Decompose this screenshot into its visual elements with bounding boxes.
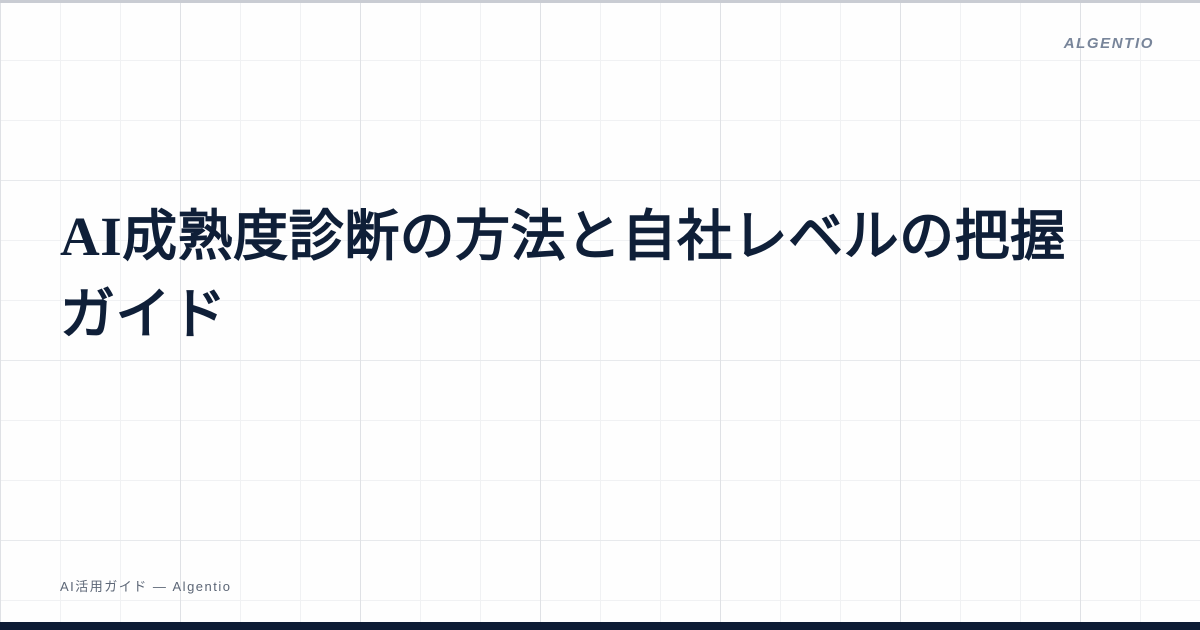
brand-logo: ALGENTIO: [1064, 36, 1154, 51]
page-title: AI成熟度診断の方法と自社レベルの把握ガイド: [60, 198, 1100, 354]
slide-canvas: ALGENTIO AI成熟度診断の方法と自社レベルの把握ガイド AI活用ガイド …: [0, 0, 1200, 630]
top-rule-divider: [0, 0, 1200, 3]
title-block: AI成熟度診断の方法と自社レベルの把握ガイド: [60, 198, 1100, 354]
bottom-accent-bar: [0, 622, 1200, 630]
footer-caption: AI活用ガイド — Algentio: [60, 580, 232, 593]
